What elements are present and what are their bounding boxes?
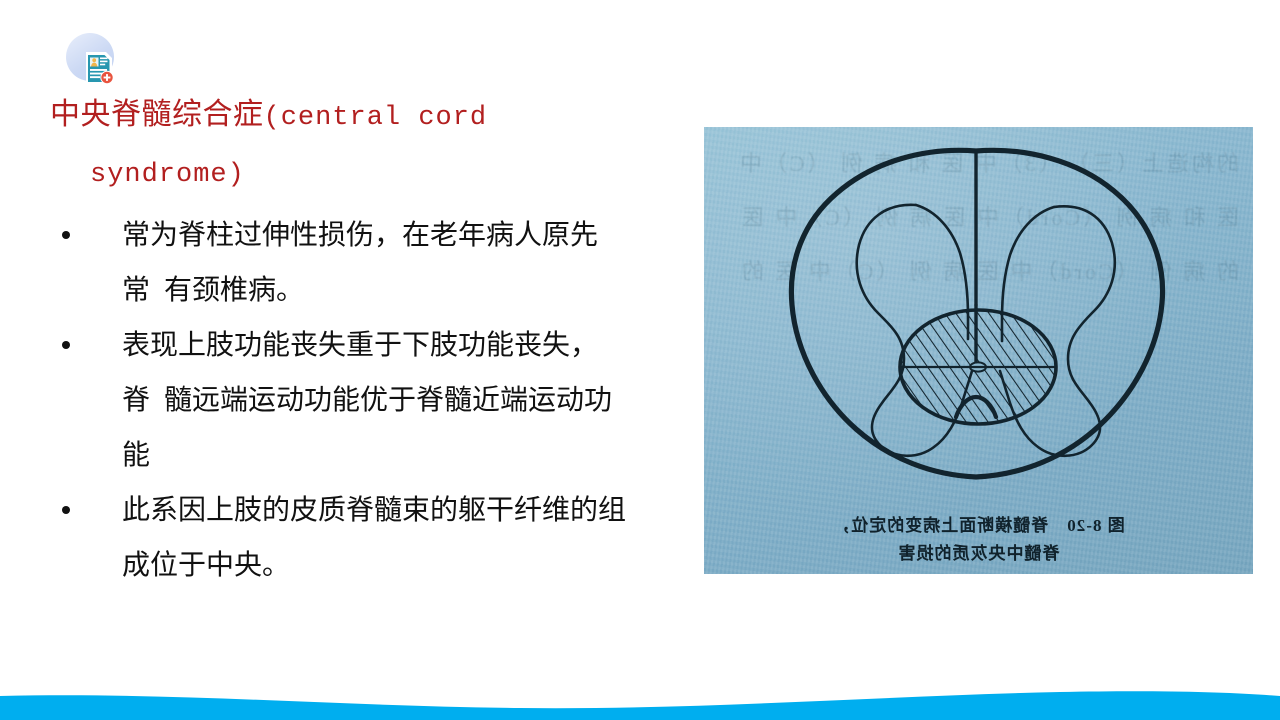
- bullet-list: 常为脊柱过伸性损伤，在老年病人原先常 有颈椎病。 表现上肢功能丧失重于下肢功能丧…: [50, 208, 630, 593]
- bottom-wave-decoration: [0, 680, 1280, 720]
- title-english-part2: syndrome): [90, 160, 245, 190]
- bullet-dot-icon: [62, 341, 70, 349]
- figure-caption: 图 8-20 脊髓横断面上病变的定位， 脊髓中央灰质的损害: [704, 511, 1253, 564]
- slide-title: 中央脊髓综合症(central cord: [50, 88, 630, 145]
- title-english-part1: (central cord: [264, 103, 488, 133]
- bullet-text-1: 常为脊柱过伸性损伤，在老年病人原先常 有颈椎病。: [76, 208, 630, 318]
- spinal-cord-figure-photo: 的构造上（三） （3）中 医 和 病 例 （C）中 医 和 病 例 （Cord）…: [704, 127, 1253, 574]
- bullet-item-3: 此系因上肢的皮质脊髓束的躯干纤维的组成位于中央。: [50, 483, 630, 593]
- central-lesion-hatched: [900, 310, 1056, 424]
- slide-title-line2: syndrome): [50, 145, 630, 202]
- bullet-item-1: 常为脊柱过伸性损伤，在老年病人原先常 有颈椎病。: [50, 208, 630, 318]
- figure-caption-line2: 脊髓中央灰质的损害: [704, 539, 1253, 564]
- bullet-text-3: 此系因上肢的皮质脊髓束的躯干纤维的组成位于中央。: [76, 483, 630, 593]
- bullet-dot-icon: [62, 506, 70, 514]
- bullet-text-2: 表现上肢功能丧失重于下肢功能丧失，脊 髓远端运动功能优于脊髓近端运动功能: [76, 318, 630, 483]
- presentation-slide: 中央脊髓综合症(central cord syndrome) 常为脊柱过伸性损伤…: [0, 0, 1280, 720]
- figure-caption-line1: 图 8-20 脊髓横断面上病变的定位，: [704, 511, 1253, 536]
- spinal-cord-diagram: [704, 127, 1253, 574]
- medical-record-glyph: [84, 51, 114, 85]
- bullet-item-2: 表现上肢功能丧失重于下肢功能丧失，脊 髓远端运动功能优于脊髓近端运动功能: [50, 318, 630, 483]
- slide-text-column: 中央脊髓综合症(central cord syndrome) 常为脊柱过伸性损伤…: [50, 88, 630, 593]
- medical-record-icon: [66, 33, 128, 95]
- wave-shape: [0, 680, 1280, 720]
- bullet-dot-icon: [62, 231, 70, 239]
- title-chinese: 中央脊髓综合症: [50, 98, 264, 131]
